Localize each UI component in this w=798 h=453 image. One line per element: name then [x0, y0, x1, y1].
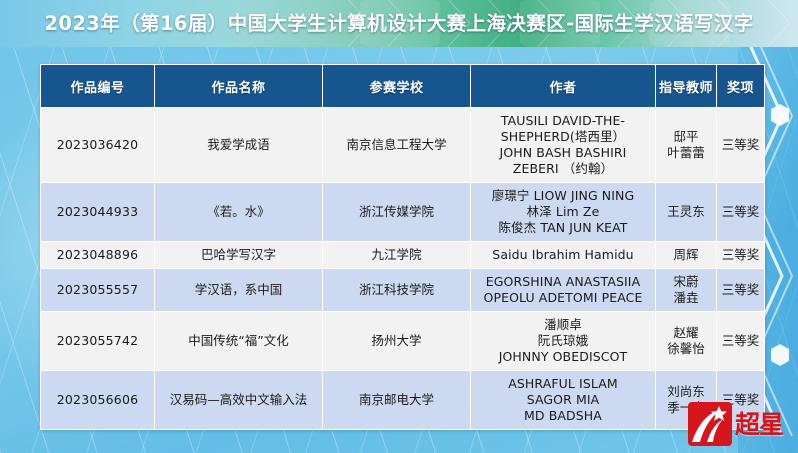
- cell-work-title: 学汉语，系中国: [155, 269, 322, 311]
- cell-authors-line: 林泽 Lim Ze: [474, 204, 652, 220]
- cell-authors-line: Saidu Ibrahim Hamidu: [474, 247, 652, 263]
- cell-authors-line: TAUSILI DAVID-THE-: [474, 113, 652, 129]
- cell-authors-line: ASHRAFUL ISLAM: [474, 376, 652, 392]
- cell-authors-line: 潘顺卓: [474, 317, 652, 333]
- cell-work-id: 2023055742: [41, 312, 154, 370]
- cell-award: 三等奖: [717, 269, 764, 311]
- cell-teachers-line: 赵耀: [659, 325, 713, 341]
- table-row: 2023056606汉易码—高效中文输入法南京邮电大学ASHRAFUL ISLA…: [41, 371, 764, 429]
- cell-school: 南京信息工程大学: [323, 108, 470, 182]
- cell-work-title: 我爱学成语: [155, 108, 322, 182]
- cell-authors: Saidu Ibrahim Hamidu: [471, 242, 655, 268]
- cell-authors-line: ZEBERI （约翰）: [474, 161, 652, 177]
- cell-award: 三等奖: [717, 312, 764, 370]
- table-header-row: 作品编号 作品名称 参赛学校 作者 指导教师 奖项: [41, 65, 764, 107]
- cell-teachers-line: 宋蔚: [659, 274, 713, 290]
- cell-authors: ASHRAFUL ISLAMSAGOR MIAMD BADSHA: [471, 371, 655, 429]
- cell-work-id: 2023055557: [41, 269, 154, 311]
- cell-authors-line: SAGOR MIA: [474, 392, 652, 408]
- cell-authors-line: JOHN BASH BASHIRI: [474, 145, 652, 161]
- cell-teachers-line: 周辉: [659, 247, 713, 263]
- cell-authors-line: 阮氏琼娥: [474, 333, 652, 349]
- award-table: 作品编号 作品名称 参赛学校 作者 指导教师 奖项 2023036420我爱学成…: [40, 64, 765, 430]
- cell-work-title: 中国传统“福”文化: [155, 312, 322, 370]
- title-banner: 2023年（第16届）中国大学生计算机设计大赛上海决赛区-国际生学汉语写汉字: [0, 0, 798, 47]
- cell-authors-line: MD BADSHA: [474, 408, 652, 424]
- cell-teachers-line: 刘尚东: [659, 384, 713, 400]
- cell-work-id: 2023036420: [41, 108, 154, 182]
- cell-work-title: 汉易码—高效中文输入法: [155, 371, 322, 429]
- cell-school: 浙江传媒学院: [323, 183, 470, 241]
- table-row: 2023055742中国传统“福”文化扬州大学潘顺卓阮氏琼娥JOHNNY OBE…: [41, 312, 764, 370]
- cell-authors-line: 廖璟宁 LIOW JING NING: [474, 188, 652, 204]
- cell-teachers-line: 邸平: [659, 129, 713, 145]
- cell-school: 南京邮电大学: [323, 371, 470, 429]
- cell-school: 浙江科技学院: [323, 269, 470, 311]
- cell-authors-line: JOHNNY OBEDISCOT: [474, 349, 652, 365]
- cell-teachers: 刘尚东季一木: [656, 371, 716, 429]
- cell-teachers: 宋蔚潘垚: [656, 269, 716, 311]
- cell-teachers-line: 王灵东: [659, 204, 713, 220]
- slide-canvas: 2023年（第16届）中国大学生计算机设计大赛上海决赛区-国际生学汉语写汉字 作…: [0, 0, 798, 453]
- column-header-award: 奖项: [717, 65, 764, 107]
- cell-teachers-line: 叶蕾蕾: [659, 145, 713, 161]
- table-row: 2023048896巴哈学写汉字九江学院Saidu Ibrahim Hamidu…: [41, 242, 764, 268]
- cell-work-id: 2023056606: [41, 371, 154, 429]
- cell-award: 三等奖: [717, 242, 764, 268]
- table-body: 2023036420我爱学成语南京信息工程大学TAUSILI DAVID-THE…: [41, 108, 764, 429]
- cell-teachers: 邸平叶蕾蕾: [656, 108, 716, 182]
- cell-teachers: 周辉: [656, 242, 716, 268]
- cell-authors-line: 陈俊杰 TAN JUN KEAT: [474, 220, 652, 236]
- column-header-title: 作品名称: [155, 65, 322, 107]
- cell-work-id: 2023048896: [41, 242, 154, 268]
- cell-award: 三等奖: [717, 183, 764, 241]
- cell-work-title: 巴哈学写汉字: [155, 242, 322, 268]
- cell-authors-line: EGORSHINA ANASTASIIA: [474, 274, 652, 290]
- column-header-school: 参赛学校: [323, 65, 470, 107]
- column-header-authors: 作者: [471, 65, 655, 107]
- cell-work-title: 《若。水》: [155, 183, 322, 241]
- cell-authors-line: OPEOLU ADETOMI PEACE: [474, 290, 652, 306]
- cell-authors: EGORSHINA ANASTASIIAOPEOLU ADETOMI PEACE: [471, 269, 655, 311]
- cell-teachers: 王灵东: [656, 183, 716, 241]
- cell-authors: 廖璟宁 LIOW JING NING林泽 Lim Ze陈俊杰 TAN JUN K…: [471, 183, 655, 241]
- cell-authors: TAUSILI DAVID-THE-SHEPHERD(塔西里）JOHN BASH…: [471, 108, 655, 182]
- cell-award: 三等奖: [717, 108, 764, 182]
- table-row: 2023036420我爱学成语南京信息工程大学TAUSILI DAVID-THE…: [41, 108, 764, 182]
- cell-authors: 潘顺卓阮氏琼娥JOHNNY OBEDISCOT: [471, 312, 655, 370]
- cell-teachers: 赵耀徐馨怡: [656, 312, 716, 370]
- cell-award: 三等奖: [717, 371, 764, 429]
- column-header-teacher: 指导教师: [656, 65, 716, 107]
- cell-teachers-line: 潘垚: [659, 290, 713, 306]
- table-row: 2023055557学汉语，系中国浙江科技学院EGORSHINA ANASTAS…: [41, 269, 764, 311]
- award-table-container: 作品编号 作品名称 参赛学校 作者 指导教师 奖项 2023036420我爱学成…: [40, 64, 758, 430]
- cell-work-id: 2023044933: [41, 183, 154, 241]
- column-header-id: 作品编号: [41, 65, 154, 107]
- cell-school: 九江学院: [323, 242, 470, 268]
- page-title: 2023年（第16届）中国大学生计算机设计大赛上海决赛区-国际生学汉语写汉字: [0, 0, 798, 47]
- cell-teachers-line: 徐馨怡: [659, 341, 713, 357]
- cell-teachers-line: 季一木: [659, 400, 713, 416]
- cell-school: 扬州大学: [323, 312, 470, 370]
- cell-authors-line: SHEPHERD(塔西里）: [474, 129, 652, 145]
- table-row: 2023044933《若。水》浙江传媒学院廖璟宁 LIOW JING NING林…: [41, 183, 764, 241]
